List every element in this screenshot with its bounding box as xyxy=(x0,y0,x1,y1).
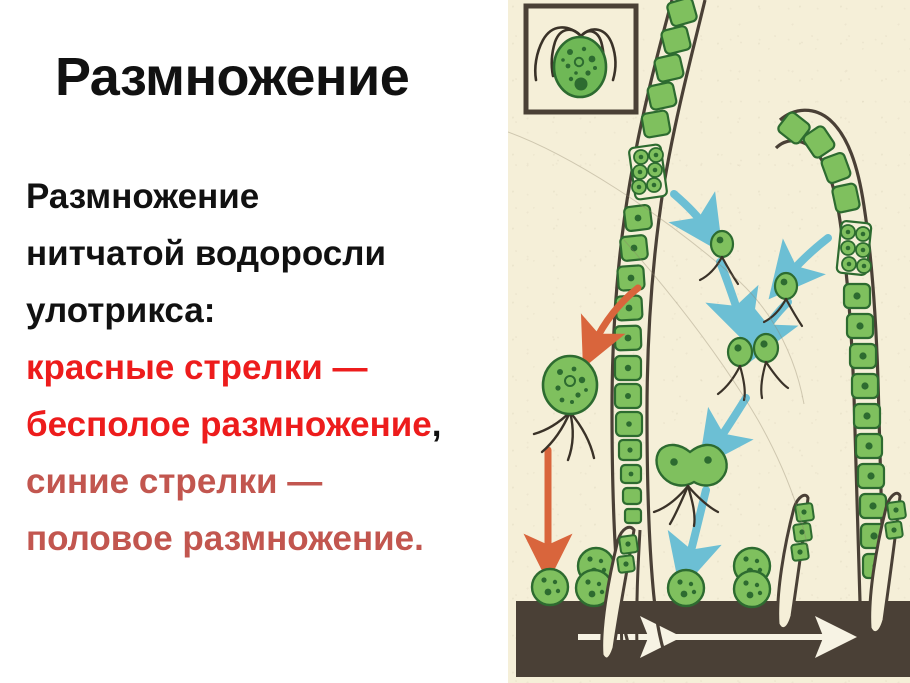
legend-asexual-comma: , xyxy=(432,405,442,444)
slide-root: Размножение Размножение нитчатой водорос… xyxy=(0,0,910,683)
body-line-2: нитчатой водоросли xyxy=(26,225,496,282)
gametangium-right-gametes xyxy=(841,225,871,273)
zoospore xyxy=(534,356,597,460)
legend-sexual-line-1: синие стрелки — xyxy=(26,453,496,510)
text-column: Размножение Размножение нитчатой водорос… xyxy=(0,0,500,683)
legend-sexual-line-2: половое размножение. xyxy=(26,510,496,567)
body-line-3-text: улотрикса: xyxy=(26,291,215,330)
filament-right-cells-upper xyxy=(776,111,860,214)
germ-cell-6 xyxy=(734,571,770,607)
legend-sexual-text-2: половое размножение xyxy=(26,519,414,558)
legend-sexual-text-1: синие стрелки — xyxy=(26,462,322,501)
gamete-a xyxy=(700,231,738,284)
zygote xyxy=(654,445,727,526)
legend-asexual-text-1: красные стрелки — xyxy=(26,348,368,387)
figure-svg xyxy=(508,0,910,683)
legend-sexual-period: . xyxy=(414,519,424,558)
cyan-arrow-1 xyxy=(674,194,706,228)
germ-cell-4 xyxy=(668,570,704,606)
germ-cell-1 xyxy=(532,569,568,605)
zoospore-inset xyxy=(526,6,636,112)
body-line-1-text: Размножение xyxy=(26,177,259,216)
gametangium-left xyxy=(629,144,668,200)
legend-asexual-text-2: бесполое размножение xyxy=(26,405,432,444)
ulothrix-life-cycle-figure xyxy=(508,0,910,683)
body-text-block: Размножение нитчатой водоросли улотрикса… xyxy=(26,168,496,567)
gametangium-left-gametes xyxy=(632,148,663,194)
gamete-fusion xyxy=(718,334,788,400)
cyan-arrow-4 xyxy=(762,302,788,336)
legend-asexual-line-1: красные стрелки — xyxy=(26,339,496,396)
legend-asexual-line-2: бесполое размножение, xyxy=(26,396,496,453)
body-line-1: Размножение xyxy=(26,168,496,225)
page-title: Размножение xyxy=(55,46,409,108)
cyan-arrow-5 xyxy=(716,398,746,444)
substrate-bar xyxy=(516,601,910,677)
cyan-arrow-2 xyxy=(788,238,828,276)
gametangium-right xyxy=(836,221,871,276)
gamete-b xyxy=(764,273,802,326)
body-line-2-text: нитчатой водоросли xyxy=(26,234,386,273)
body-line-3: улотрикса: xyxy=(26,282,496,339)
